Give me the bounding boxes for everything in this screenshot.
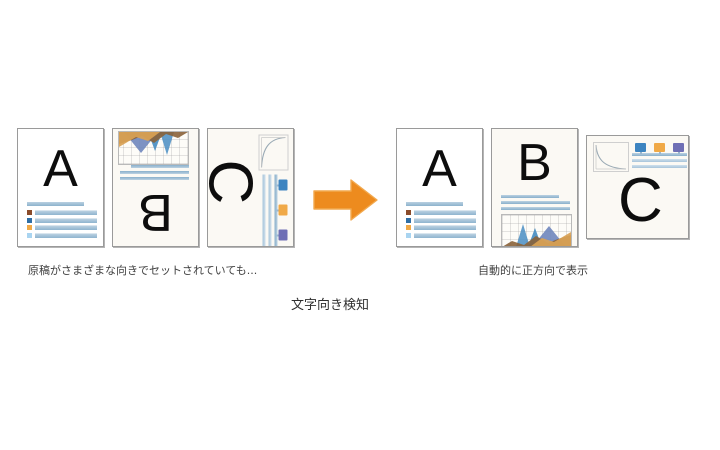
pin-marker-purple [278, 229, 287, 240]
scanned-originals-group: A [17, 128, 294, 247]
figure-canvas: A [0, 0, 720, 450]
bulleted-line [27, 218, 97, 223]
document-letter-c: C [618, 170, 663, 232]
bullet-square-blue [406, 218, 411, 223]
text-rule [414, 218, 476, 223]
area-chart [118, 131, 189, 165]
pin-marker-blue [635, 143, 646, 152]
text-rule [120, 177, 189, 180]
text-rule [406, 202, 463, 206]
document-thumbnail-a-upright[interactable]: A [17, 128, 104, 247]
document-thumbnail-row-right: A [396, 128, 689, 247]
curve-chart-series [594, 143, 628, 171]
pin-marker-block [260, 174, 286, 246]
text-rule [35, 225, 97, 230]
area-chart [501, 214, 572, 247]
bullet-square-blue [27, 218, 32, 223]
document-letter-a: A [18, 143, 103, 195]
text-rule [414, 225, 476, 230]
document-thumbnail-row-left: A [17, 128, 294, 247]
bulleted-line [406, 210, 476, 215]
bulleted-line [27, 210, 97, 215]
corrected-output-group: A [396, 128, 689, 247]
bullet-square-lightblue [406, 233, 411, 238]
text-rule [632, 165, 687, 168]
text-rule [414, 210, 476, 215]
area-chart-series [119, 132, 188, 164]
text-rule [501, 201, 570, 204]
bulleted-line [406, 233, 476, 238]
pin-marker-block [632, 144, 687, 170]
bullet-square-lightblue [27, 233, 32, 238]
document-thumbnail-b-corrected[interactable]: B [491, 128, 578, 247]
right-arrow-icon [313, 178, 378, 222]
text-rule [131, 165, 189, 168]
text-rule [414, 233, 476, 238]
pin-marker-purple [673, 143, 684, 152]
bulleted-line [406, 225, 476, 230]
bullet-square-brown [406, 210, 411, 215]
document-letter-a: A [397, 143, 482, 195]
bulleted-line [27, 225, 97, 230]
curve-chart-series [259, 135, 287, 169]
document-thumbnail-c-rotated[interactable]: C [207, 128, 294, 247]
text-rule [632, 159, 687, 162]
text-rule [35, 218, 97, 223]
text-rule [262, 174, 265, 246]
curve-chart [258, 134, 288, 170]
text-rule [35, 210, 97, 215]
text-rule [27, 202, 84, 206]
caption-corrected: 自動的に正方向で表示 [478, 262, 588, 278]
text-rule [35, 233, 97, 238]
document-letter-c: C [207, 159, 260, 204]
text-rule [268, 174, 271, 246]
text-rule [120, 171, 189, 174]
pin-marker-blue [278, 179, 287, 190]
pin-marker-orange [278, 204, 287, 215]
pin-marker-orange [654, 143, 665, 152]
curve-chart [593, 142, 629, 172]
bullet-square-orange [406, 225, 411, 230]
bullet-square-orange [27, 225, 32, 230]
text-rules-block [501, 195, 570, 213]
document-letter-b: B [492, 137, 577, 189]
bulleted-line [27, 233, 97, 238]
figure-title: 文字向き検知 [291, 294, 369, 313]
text-rule [501, 207, 570, 210]
text-rule [501, 195, 559, 198]
bulleted-line [406, 218, 476, 223]
document-thumbnail-c-corrected[interactable]: C [586, 135, 689, 239]
caption-originals: 原稿がさまざまな向きでセットされていても... [28, 262, 257, 278]
area-chart-series [502, 215, 571, 247]
text-lines-block [406, 202, 476, 240]
document-thumbnail-b-upside-down[interactable]: B [112, 128, 199, 247]
document-letter-b: B [113, 186, 198, 238]
text-lines-block [27, 202, 97, 240]
document-thumbnail-a-corrected[interactable]: A [396, 128, 483, 247]
bullet-square-brown [27, 210, 32, 215]
